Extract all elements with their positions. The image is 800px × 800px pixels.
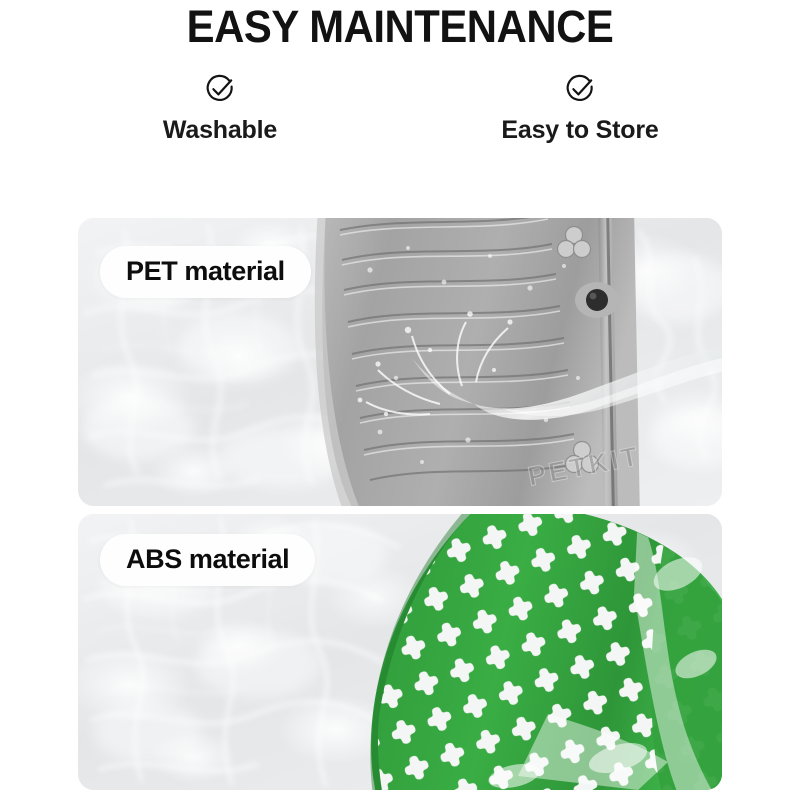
badge-abs-material: ABS material [100,534,315,586]
feature-list: Washable Easy to Store [0,72,800,145]
feature-label: Washable [163,115,277,145]
feature-label: Easy to Store [501,115,658,145]
check-circle-icon [563,72,597,106]
feature-item-washable: Washable [120,72,320,145]
badge-pet-material: PET material [100,246,311,298]
panel-abs-material: ABS material [78,514,722,790]
infographic-page: EASY MAINTENANCE Washable Easy to Store [0,0,800,800]
badge-label: PET material [126,256,285,286]
feature-item-easy-to-store: Easy to Store [480,72,680,145]
badge-label: ABS material [126,544,289,574]
panel-pet-material: PETKIT [78,218,722,506]
page-title: EASY MAINTENANCE [28,2,772,52]
check-circle-icon [203,72,237,106]
